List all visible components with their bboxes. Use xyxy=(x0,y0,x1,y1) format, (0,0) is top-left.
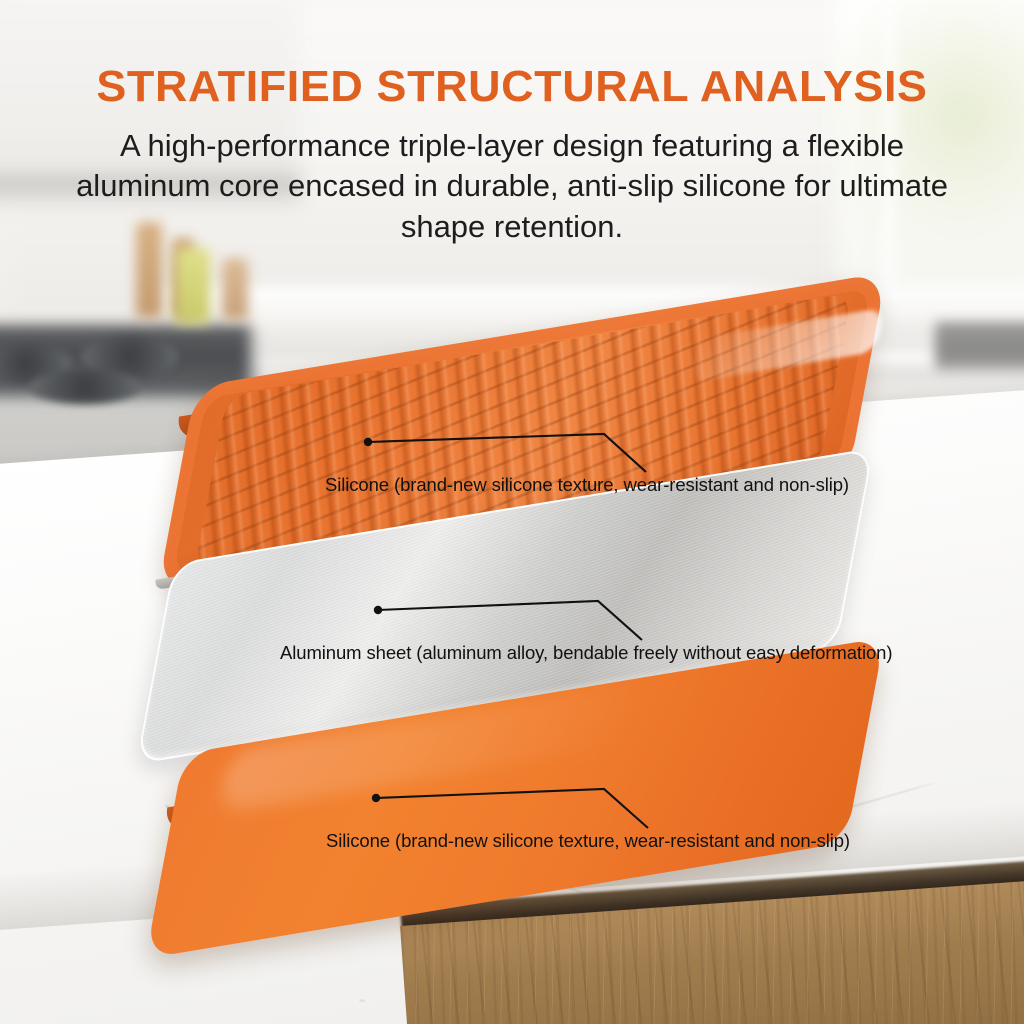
callout-label-top: Silicone (brand-new silicone texture, we… xyxy=(325,474,849,496)
kitchen-sink xyxy=(935,322,1024,370)
callout-top-silicone: Silicone (brand-new silicone texture, we… xyxy=(360,428,920,498)
burner-icon xyxy=(30,370,140,404)
callout-label-bottom: Silicone (brand-new silicone texture, we… xyxy=(326,830,850,852)
callout-bottom-silicone: Silicone (brand-new silicone texture, we… xyxy=(368,784,928,854)
jar xyxy=(222,258,248,320)
page-subtitle: A high-performance triple-layer design f… xyxy=(72,126,952,247)
header-block: STRATIFIED STRUCTURAL ANALYSIS A high-pe… xyxy=(0,0,1024,247)
page-title: STRATIFIED STRUCTURAL ANALYSIS xyxy=(0,0,1024,112)
callout-aluminum: Aluminum sheet (aluminum alloy, bendable… xyxy=(370,596,940,666)
infographic-canvas: STRATIFIED STRUCTURAL ANALYSIS A high-pe… xyxy=(0,0,1024,1024)
oil-bottle xyxy=(176,248,210,324)
callout-label-aluminum: Aluminum sheet (aluminum alloy, bendable… xyxy=(280,642,892,664)
